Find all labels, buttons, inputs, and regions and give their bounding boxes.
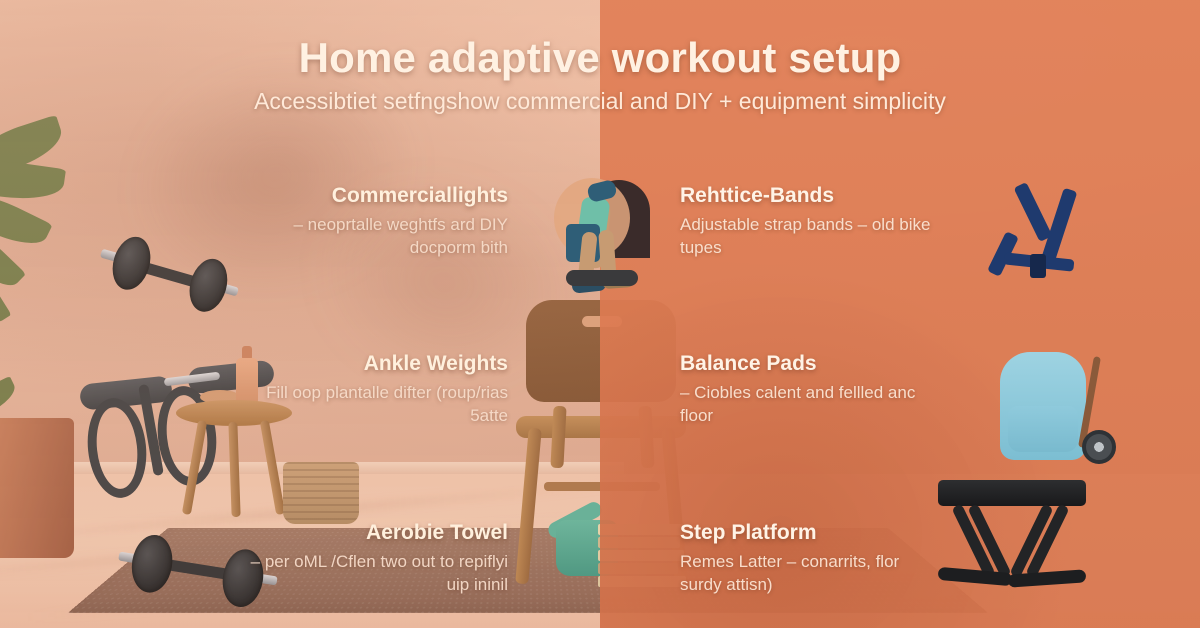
feature-item-resistance-bands: Rehttice-Bands Adjustable strap bands – … xyxy=(680,184,940,260)
feature-title: Rehttice-Bands xyxy=(680,184,940,208)
feature-item-balance-pads: Balance Pads – Ciobles calent and fellle… xyxy=(680,352,940,428)
feature-item-commercial-lights: Commerciallights – neoprtalle weghtfs ar… xyxy=(248,184,508,260)
feature-description: – neoprtalle weghtfs ard DIY docporm bit… xyxy=(248,214,508,260)
feature-description: Adjustable strap bands – old bike tupes xyxy=(680,214,940,260)
feature-item-ankle-weights: Ankle Weights Fill oop plantalle difter … xyxy=(248,352,508,428)
feature-description: Remes Latter – conarrits, flor surdy att… xyxy=(680,551,940,597)
feature-title: Ankle Weights xyxy=(248,352,508,376)
feature-title: Aerobie Towel xyxy=(248,521,508,545)
feature-description: – Ciobles calent and fellled anc floor xyxy=(680,382,940,428)
page-title: Home adaptive workout setup xyxy=(0,34,1200,82)
text-overlay: Home adaptive workout setup Accessibtiet… xyxy=(0,0,1200,628)
feature-title: Balance Pads xyxy=(680,352,940,376)
feature-title: Commerciallights xyxy=(248,184,508,208)
feature-title: Step Platform xyxy=(680,521,940,545)
poster-canvas: Home adaptive workout setup Accessibtiet… xyxy=(0,0,1200,628)
feature-description: Fill oop plantalle difter (roup/rias 5at… xyxy=(248,382,508,428)
feature-item-step-platform: Step Platform Remes Latter – conarrits, … xyxy=(680,521,940,597)
feature-item-aerobie-towel: Aerobie Towel – per oML /Cflen two out t… xyxy=(248,521,508,597)
page-subtitle: Accessibtiet setfngshow commercial and D… xyxy=(0,88,1200,115)
feature-description: – per oML /Cflen two out to repiflyi uip… xyxy=(248,551,508,597)
